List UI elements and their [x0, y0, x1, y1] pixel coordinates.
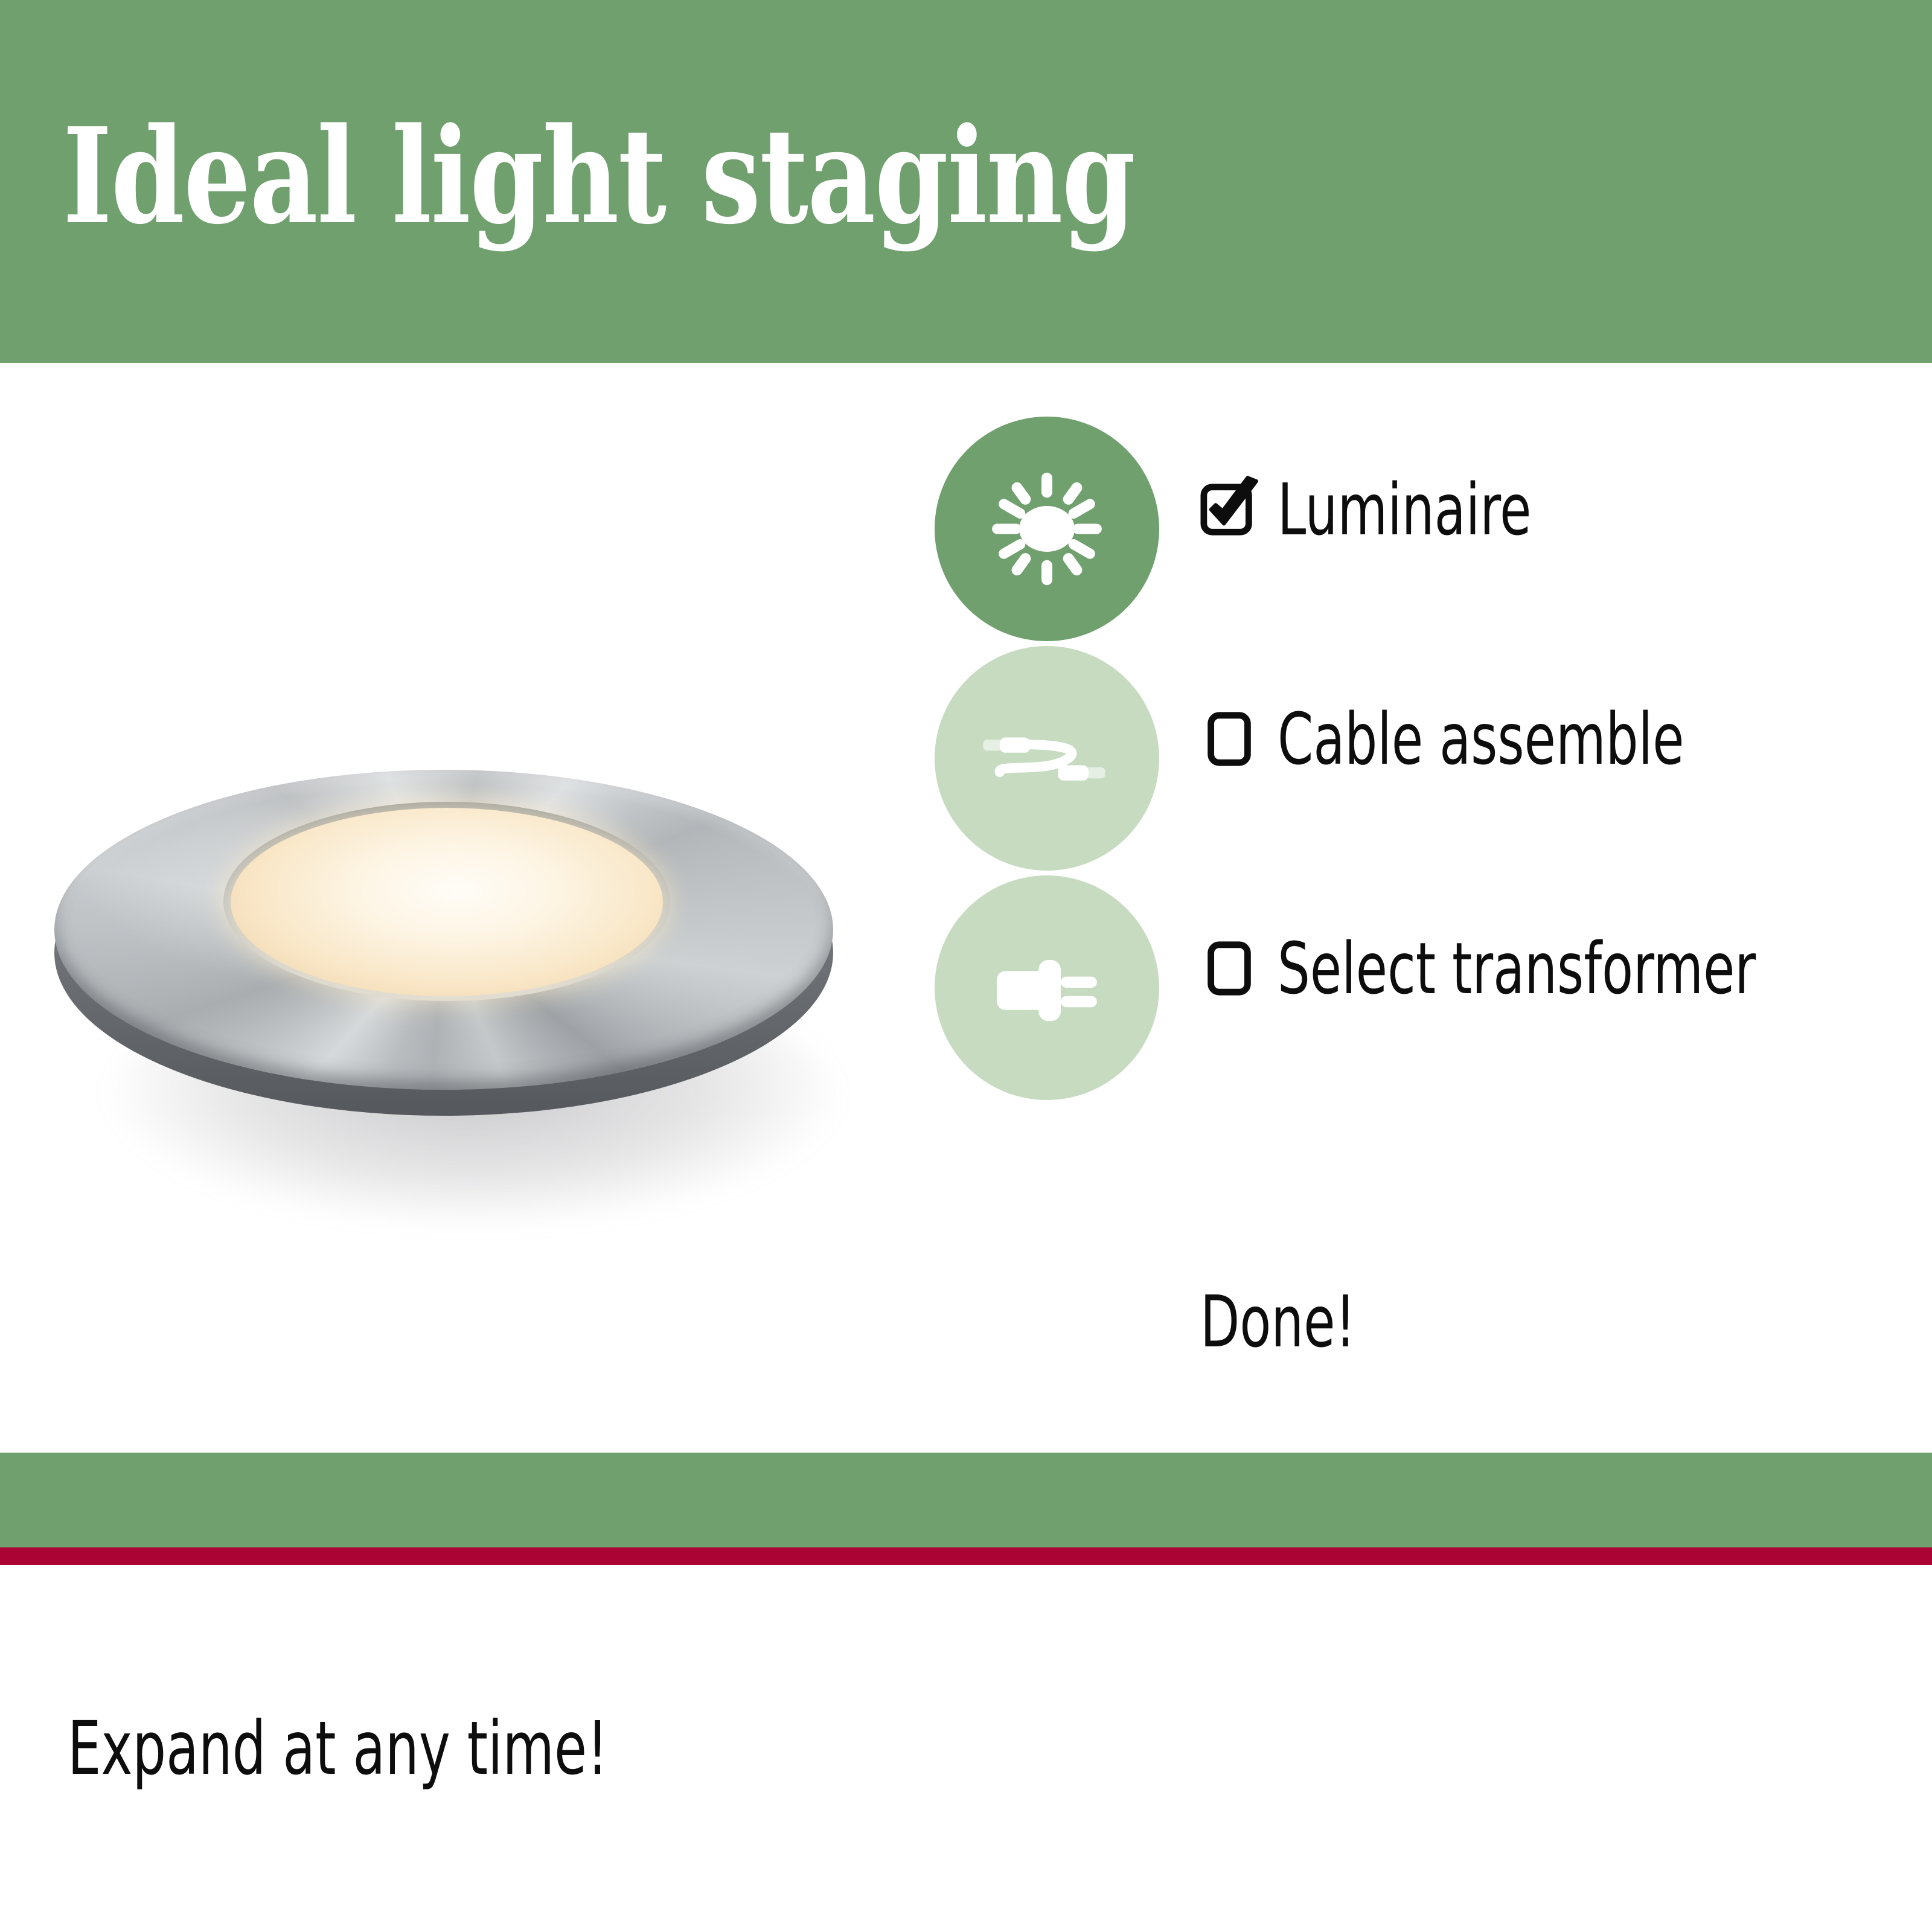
checklist-item-label: Select transformer: [1278, 933, 1756, 1004]
checklist-label-group[interactable]: Cable assemble: [1200, 703, 1786, 775]
footer-band-green: [0, 1453, 1932, 1547]
checklist-item-transformer[interactable]: Select transformer: [935, 875, 1901, 1105]
checkbox-checked-icon: [1200, 480, 1259, 539]
product-image: [36, 712, 906, 1232]
checkbox-unchecked-cable[interactable]: [1200, 709, 1259, 769]
cable-icon: [977, 689, 1116, 828]
footer-band-crimson: [0, 1547, 1932, 1565]
checkbox-unchecked-icon: [1200, 939, 1259, 998]
checklist-item-label: Luminaire: [1278, 474, 1531, 545]
checklist-item-luminaire[interactable]: Luminaire: [935, 417, 1901, 646]
checklist-label-group[interactable]: Select transformer: [1200, 933, 1875, 1004]
plug-icon-badge: [935, 875, 1159, 1100]
checklist-item-label: Cable assemble: [1278, 703, 1684, 775]
checklist-label-group[interactable]: Luminaire: [1200, 474, 1595, 545]
sun-icon-badge: [935, 417, 1159, 641]
sun-icon: [977, 459, 1116, 598]
checklist: Luminaire Cable assemble: [935, 417, 1901, 1105]
checkbox-unchecked-icon: [1200, 709, 1259, 769]
plug-icon: [977, 918, 1116, 1057]
footer-text: Expand at any time!: [68, 1712, 608, 1785]
cable-icon-badge: [935, 646, 1159, 871]
product-lens-glow: [231, 808, 663, 996]
done-label: Done!: [1200, 1286, 1355, 1357]
header-band: Ideal light staging: [0, 0, 1932, 363]
checkbox-checked-luminaire[interactable]: [1200, 480, 1259, 539]
page-title: Ideal light staging: [63, 107, 1134, 246]
checkbox-unchecked-transformer[interactable]: [1200, 939, 1259, 998]
checklist-item-cable[interactable]: Cable assemble: [935, 646, 1901, 875]
